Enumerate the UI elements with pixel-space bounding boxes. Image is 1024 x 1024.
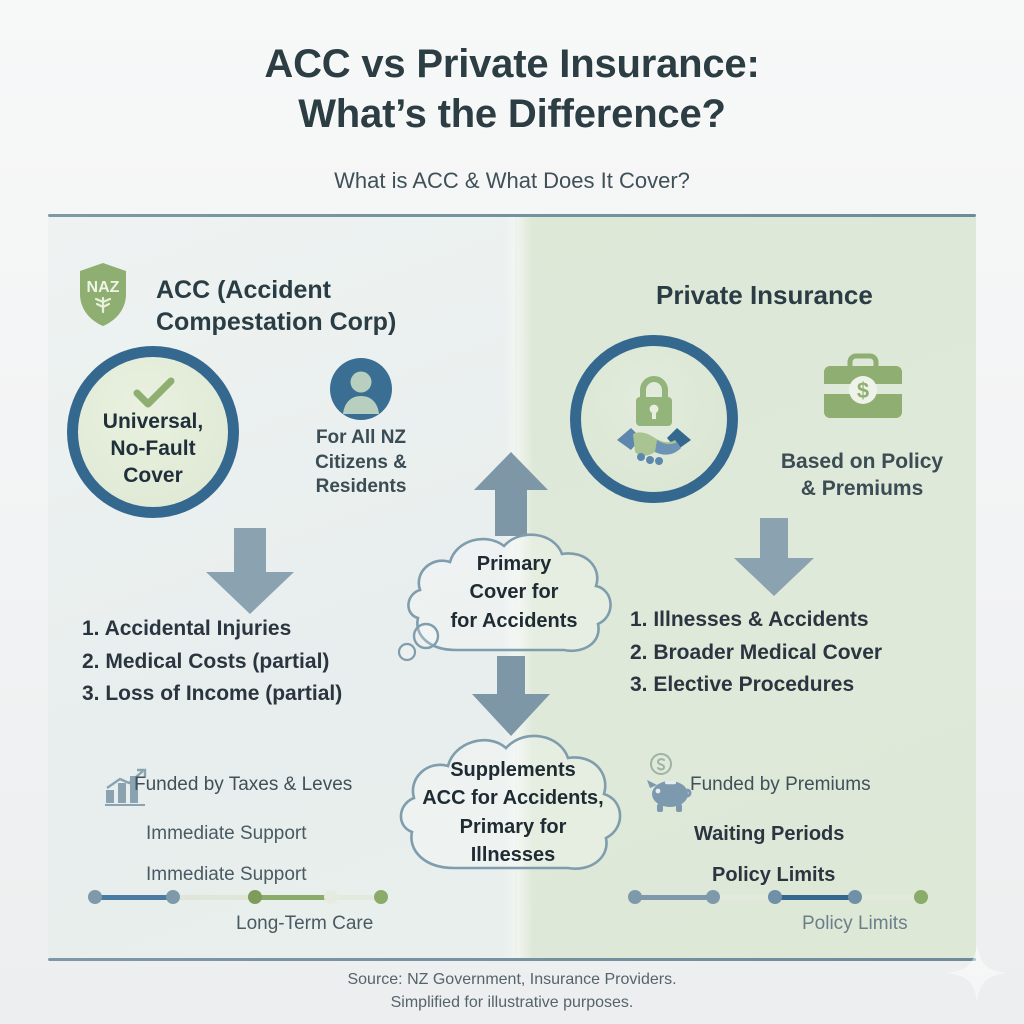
left-timeline-dot-5[interactable] (374, 890, 388, 904)
right-panel-heading: Private Insurance (656, 279, 873, 312)
cloud-bottom-line-4: Illnesses (392, 841, 634, 869)
handshake-circle (570, 335, 738, 503)
right-timeline-dot-3[interactable] (768, 890, 782, 904)
left-heading-line-2: Compestation Corp) (156, 306, 456, 338)
right-timeline-dot-4[interactable] (848, 890, 862, 904)
cloud-primary-cover: Primary Cover for for Accidents (398, 524, 630, 669)
circle-line-3: Cover (78, 463, 228, 490)
right-basis-line-2: & Premiums (742, 475, 982, 502)
right-funding-label: Funded by Premiums (690, 774, 871, 796)
svg-text:NAZ: NAZ (87, 279, 120, 296)
lock-and-handshake-icon (611, 368, 697, 478)
cloud-top-line-2: Cover for (398, 578, 630, 606)
right-timeline (628, 890, 928, 904)
right-list-item-1: 1. Illnesses & Accidents (630, 604, 970, 637)
right-down-arrow-icon (726, 518, 822, 598)
left-funding-label: Funded by Taxes & Leves (134, 774, 352, 796)
left-note-2: Immediate Support (146, 864, 307, 886)
right-note-2: Policy Limits (712, 864, 835, 887)
audience-line-1: For All NZ (286, 426, 436, 451)
shield-icon: NAZ (78, 262, 128, 328)
left-timeline-dot-3[interactable] (248, 890, 262, 904)
left-down-arrow-icon (196, 528, 304, 616)
left-timeline-fill-blue (95, 895, 173, 900)
circle-line-2: No-Fault (78, 436, 228, 463)
right-timeline-label: Policy Limits (802, 913, 908, 935)
right-coverage-list: 1. Illnesses & Accidents 2. Broader Medi… (630, 604, 970, 702)
cloud-top-line-1: Primary (398, 550, 630, 578)
right-basis-label: Based on Policy & Premiums (742, 448, 982, 503)
right-list-item-2: 2. Broader Medical Cover (630, 637, 970, 670)
cloud-supplements: Supplements ACC for Accidents, Primary f… (392, 722, 634, 887)
right-timeline-fill-2 (775, 895, 855, 900)
check-icon (133, 377, 175, 409)
left-heading-line-1: ACC (Accident (156, 274, 456, 306)
infographic-canvas: ACC vs Private Insurance: What’s the Dif… (0, 0, 1024, 1024)
right-timeline-dot-5[interactable] (914, 890, 928, 904)
left-note-1: Immediate Support (146, 823, 307, 845)
universal-cover-circle: Universal, No-Fault Cover (67, 346, 239, 518)
right-timeline-dot-2[interactable] (706, 890, 720, 904)
left-timeline-dot-2[interactable] (166, 890, 180, 904)
right-timeline-dot-1[interactable] (628, 890, 642, 904)
left-timeline (88, 890, 388, 904)
source-line-1: Source: NZ Government, Insurance Provide… (0, 968, 1024, 991)
person-icon (330, 358, 392, 420)
cloud-bottom-line-2: ACC for Accidents, (392, 784, 634, 812)
svg-text:$: $ (857, 378, 869, 403)
audience-line-3: Residents (286, 475, 436, 500)
source-note: Source: NZ Government, Insurance Provide… (0, 968, 1024, 1014)
audience-line-2: Citizens & (286, 451, 436, 476)
piggy-bank-icon (646, 772, 694, 819)
briefcase-money-icon: $ (820, 352, 906, 429)
sparkle-decoration-icon (942, 938, 1012, 1008)
left-list-item-3: 3. Loss of Income (partial) (82, 678, 442, 711)
left-timeline-dot-1[interactable] (88, 890, 102, 904)
left-list-item-1: 1. Accidental Injuries (82, 613, 442, 646)
left-timeline-dot-4[interactable] (324, 890, 338, 904)
cloud-primary-text: Primary Cover for for Accidents (398, 550, 630, 635)
content-layer: NAZ ACC (Accident Compestation Corp) Uni… (0, 0, 1024, 1024)
circle-line-1: Universal, (78, 409, 228, 436)
right-basis-line-1: Based on Policy (742, 448, 982, 475)
left-timeline-label: Long-Term Care (236, 913, 373, 935)
cloud-top-line-3: for Accidents (398, 607, 630, 635)
source-line-2: Simplified for illustrative purposes. (0, 991, 1024, 1014)
universal-cover-label: Universal, No-Fault Cover (78, 409, 228, 490)
left-timeline-fill-green (255, 895, 331, 900)
left-coverage-list: 1. Accidental Injuries 2. Medical Costs … (82, 613, 442, 711)
cloud-supplements-text: Supplements ACC for Accidents, Primary f… (392, 756, 634, 870)
right-timeline-fill-1 (635, 895, 713, 900)
cloud-bottom-line-3: Primary for (392, 813, 634, 841)
audience-label: For All NZ Citizens & Residents (286, 426, 436, 500)
right-list-item-3: 3. Elective Procedures (630, 669, 970, 702)
left-list-item-2: 2. Medical Costs (partial) (82, 646, 442, 679)
right-note-1: Waiting Periods (694, 823, 844, 846)
cloud-bottom-line-1: Supplements (392, 756, 634, 784)
left-panel-heading: ACC (Accident Compestation Corp) (156, 274, 456, 338)
